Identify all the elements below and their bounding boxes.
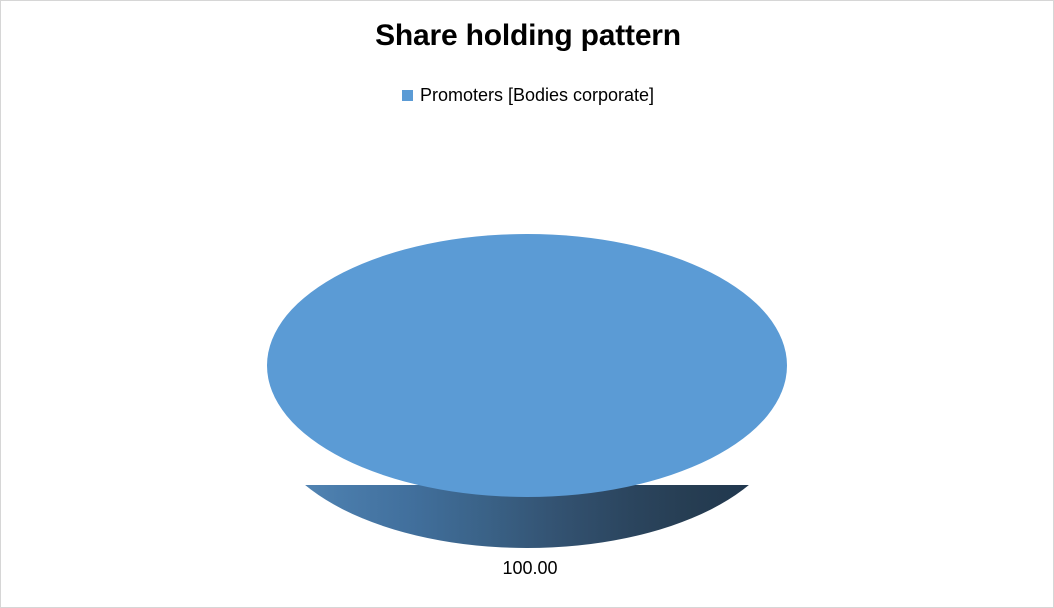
pie-slice-promoters[interactable] xyxy=(267,234,787,497)
pie-chart-graphic[interactable] xyxy=(267,234,787,548)
chart-canvas: Share holding pattern Promoters [Bodies … xyxy=(0,0,1054,608)
pie-data-label: 100.00 xyxy=(1,559,1054,577)
legend-square-marker-icon xyxy=(402,90,413,101)
legend-item-label: Promoters [Bodies corporate] xyxy=(420,86,654,104)
legend-item-promoters[interactable]: Promoters [Bodies corporate] xyxy=(402,86,654,104)
pie-data-label-value: 100.00 xyxy=(502,558,557,578)
chart-title: Share holding pattern xyxy=(1,19,1054,52)
chart-legend: Promoters [Bodies corporate] xyxy=(1,86,1054,104)
